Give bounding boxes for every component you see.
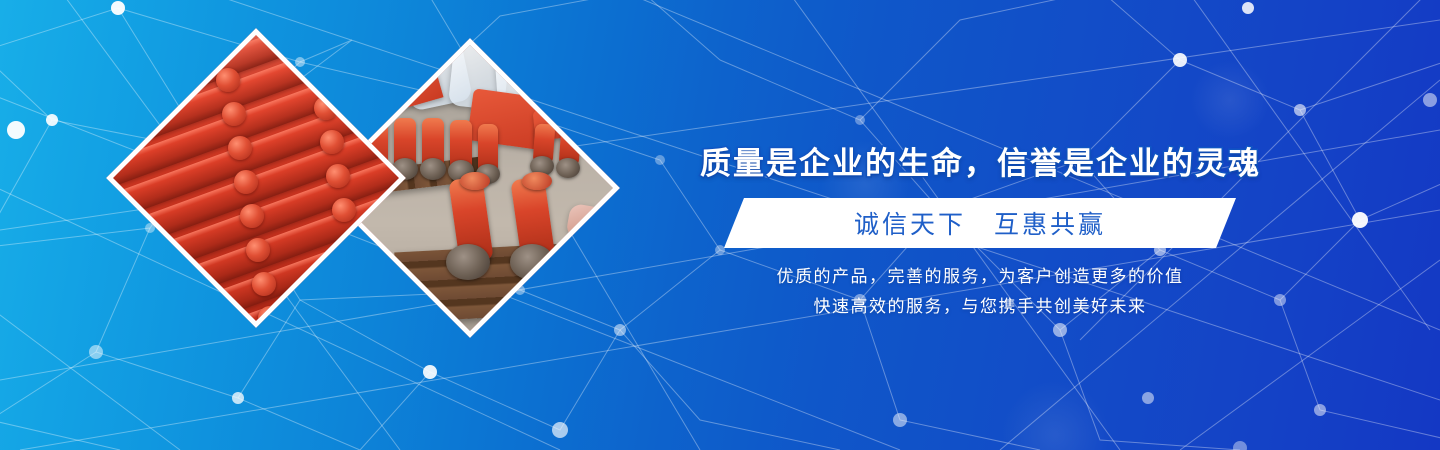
photo-red-shafts xyxy=(106,28,406,328)
subtitle-line-1: 优质的产品，完善的服务，为客户创造更多的价值 xyxy=(700,262,1260,292)
product-image-universal-joint-shafts xyxy=(106,28,406,328)
subtitle-line-2: 快速高效的服务，与您携手共创美好未来 xyxy=(700,292,1260,322)
page-title: 质量是企业的生命，信誉是企业的灵魂 xyxy=(700,138,1260,183)
text-content-block: 质量是企业的生命，信誉是企业的灵魂 诚信天下 互惠共赢 优质的产品，完善的服务，… xyxy=(700,0,1260,450)
subtitle-group: 优质的产品，完善的服务，为客户创造更多的价值 快速高效的服务，与您携手共创美好未… xyxy=(700,262,1260,322)
slogan-text: 诚信天下 互惠共赢 xyxy=(724,198,1236,248)
promotional-banner: 质量是企业的生命，信誉是企业的灵魂 诚信天下 互惠共赢 优质的产品，完善的服务，… xyxy=(0,0,1440,450)
